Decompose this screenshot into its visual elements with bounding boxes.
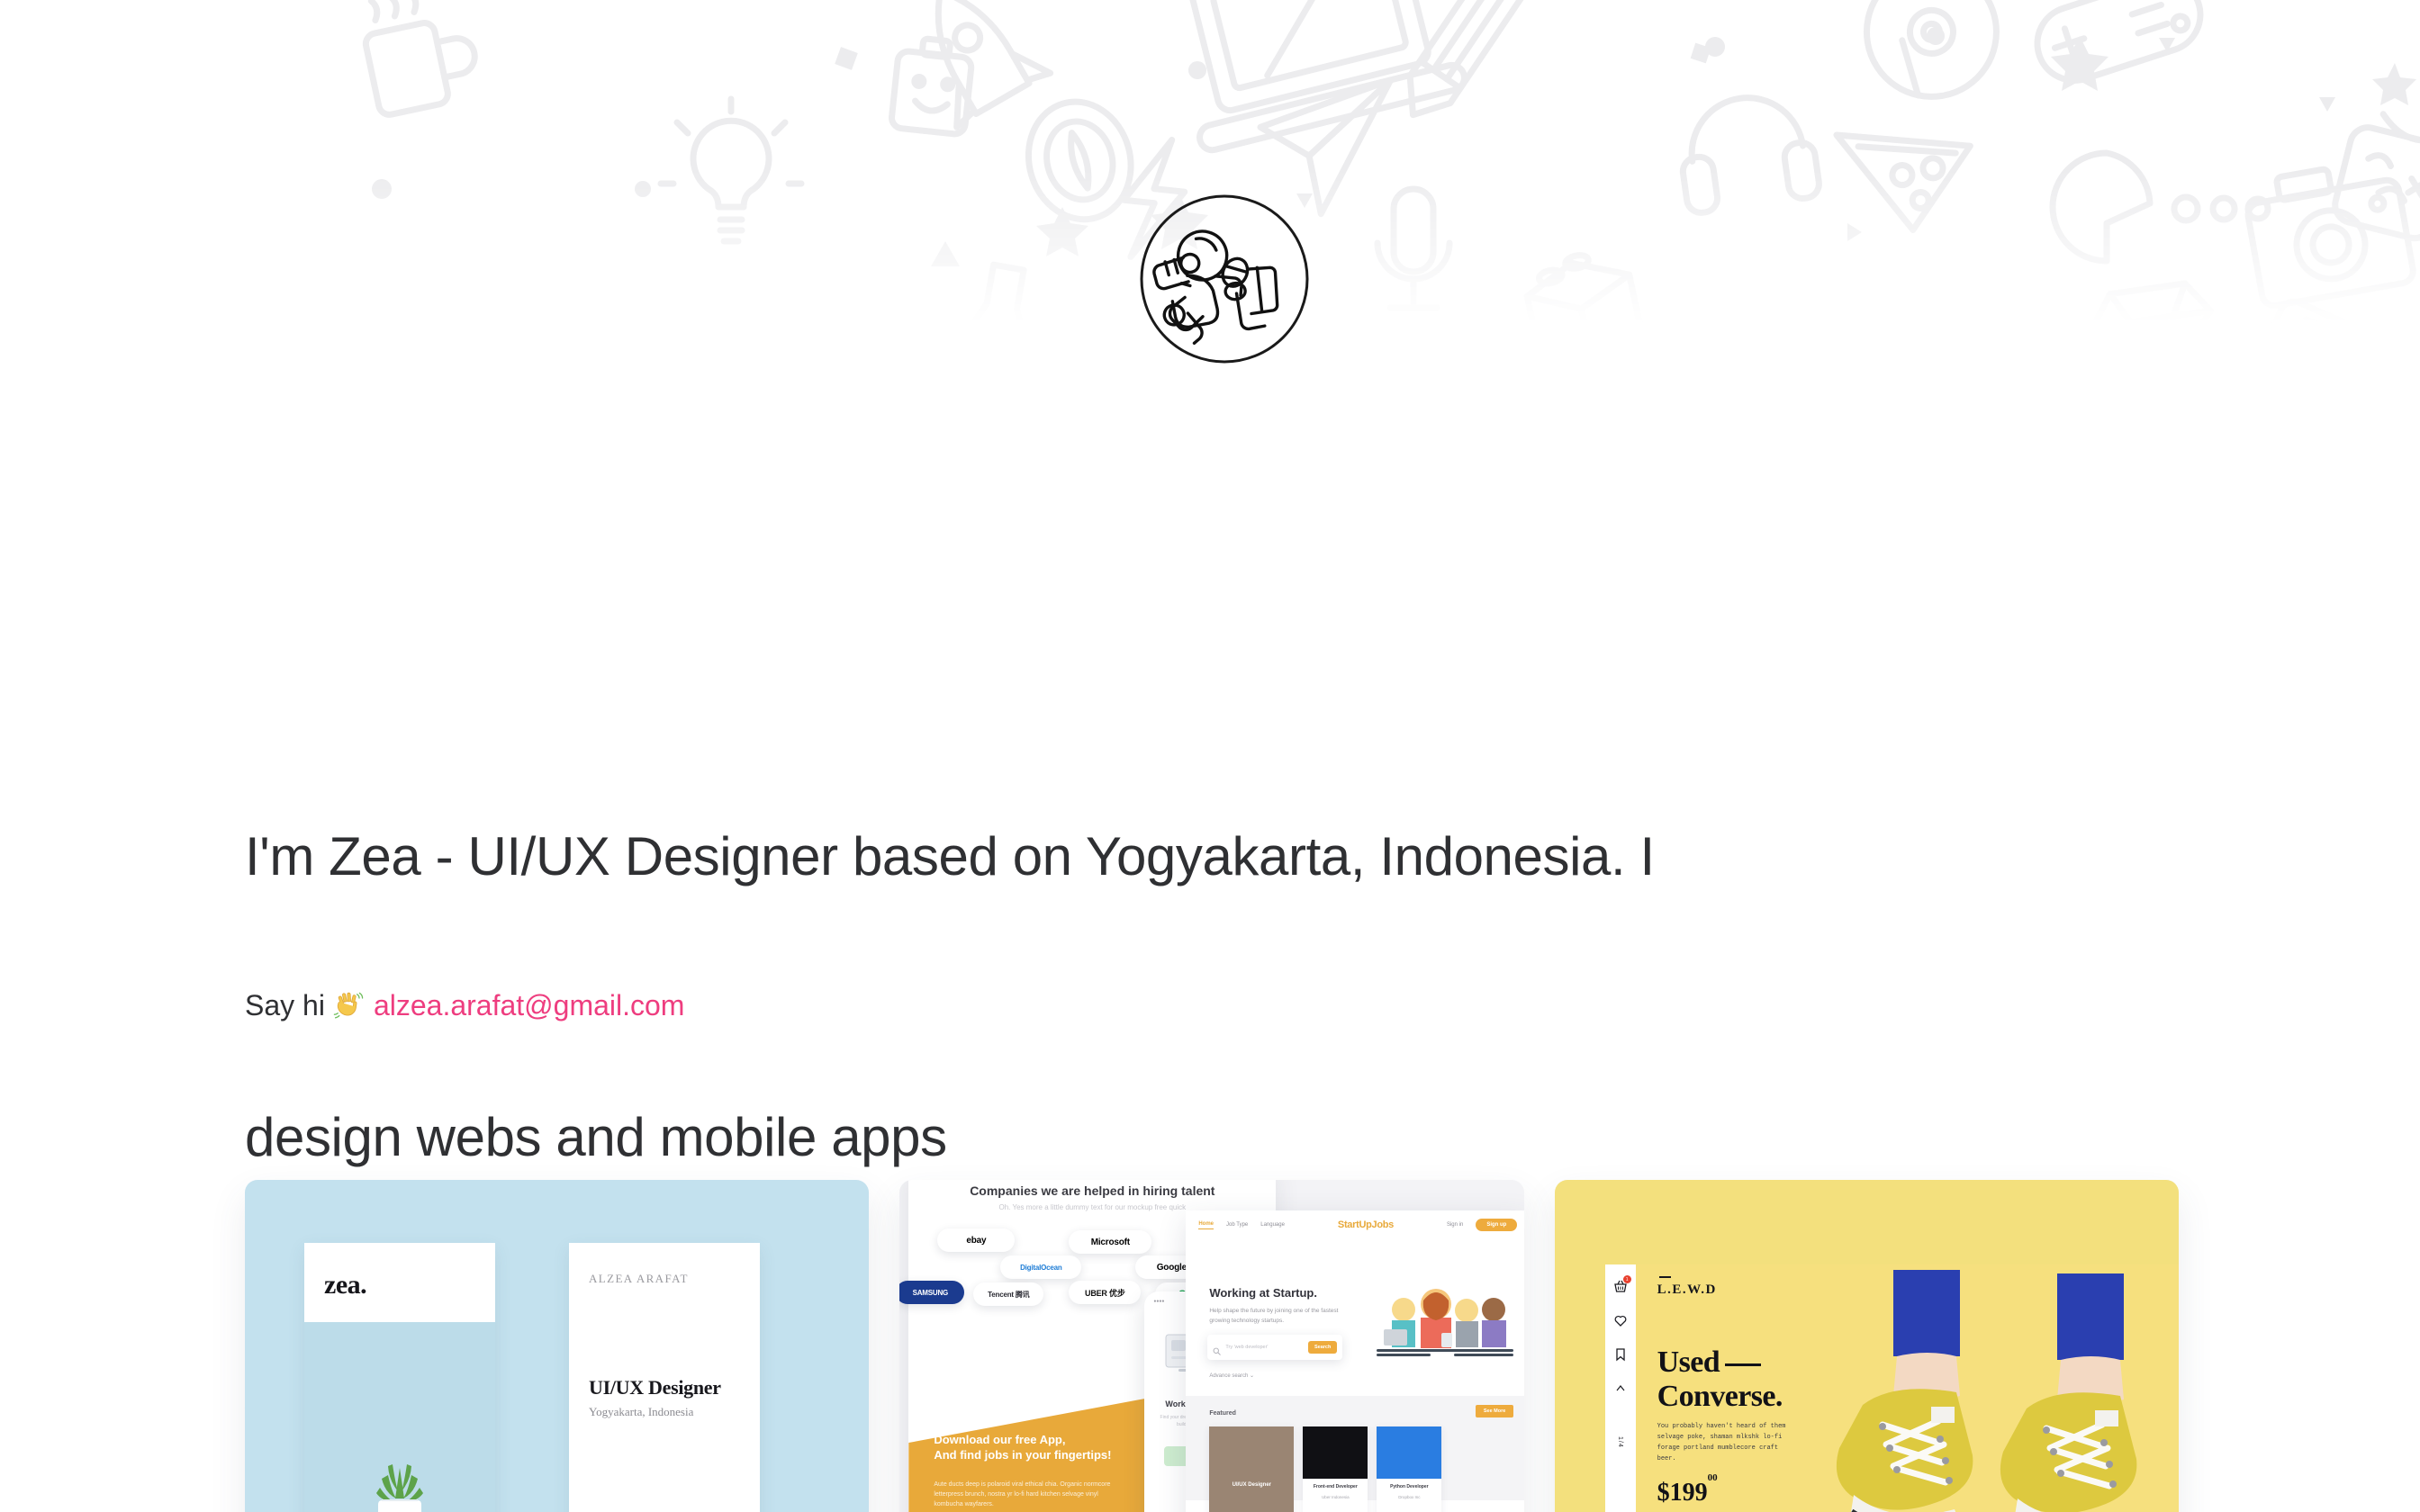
doodle-small-shapes (372, 27, 2420, 324)
company-logo-digitalocean: DigitalOcean (1000, 1255, 1081, 1279)
promo-heading-line-1: Download our free App, (934, 1433, 1065, 1446)
pacman-icon (2053, 153, 2268, 261)
sign-up-button[interactable]: Sign up (1476, 1219, 1517, 1231)
team-illustration (1373, 1286, 1517, 1358)
email-link[interactable]: alzea.arafat@gmail.com (374, 985, 685, 1025)
portfolio-page: I'm Zea - UI/UX Designer based on Yogyak… (0, 0, 2420, 1512)
mockup-search-bar[interactable]: Try 'web developer' Search (1207, 1335, 1342, 1360)
mockup-brand-logo: StartUpJobs (1338, 1219, 1394, 1230)
rocket-icon (894, 0, 1051, 127)
lego-brick-icon (1521, 246, 1645, 324)
nav-item-job-type[interactable]: Job Type (1226, 1222, 1248, 1228)
project-card-lewd-ecommerce[interactable]: 1 1/4 (1555, 1180, 2179, 1512)
waving-hand-icon (332, 989, 365, 1021)
game-controller-icon (2016, 0, 2210, 90)
promo-heading-line-2: And find jobs in your fingertips! (934, 1448, 1111, 1462)
branding-mockup-right: ALZEA ARAFAT UI/UX Designer Yogyakarta, … (569, 1243, 760, 1512)
project-gallery: zea. (245, 1180, 2179, 1512)
promo-body: Aute ducts deep is polaroid viral ethica… (934, 1480, 1123, 1509)
zea-brandmark: zea. (324, 1270, 366, 1300)
job-company: Uber Indonesia (1306, 1495, 1364, 1499)
mockup-hero-heading: Working at Startup. (1209, 1286, 1317, 1300)
heading-line-2: design webs and mobile apps (245, 1091, 2136, 1184)
job-title: UI/UX Designer (1209, 1482, 1294, 1488)
company-logo-ebay: ebay (937, 1228, 1015, 1252)
product-title-line-2: Converse. (1657, 1380, 1783, 1413)
astronaut-logo-icon[interactable] (1137, 192, 1312, 366)
product-title: Used Converse. (1657, 1345, 1820, 1414)
contact-line: Say hi alzea.arafat@gmail.com (245, 985, 684, 1025)
promo-heading: Download our free App, And find jobs in … (934, 1432, 1141, 1462)
converse-sneakers-photo (1807, 1270, 2179, 1512)
cart-count-badge: 1 (1623, 1275, 1631, 1283)
pencil-icon (1393, 0, 1526, 129)
heart-icon[interactable] (1613, 1313, 1628, 1327)
search-button[interactable]: Search (1308, 1341, 1337, 1354)
price-amount: $199 (1657, 1479, 1708, 1507)
search-icon (1213, 1344, 1221, 1352)
see-more-button[interactable]: See More (1476, 1405, 1513, 1417)
company-logo-tencent: Tencent 腾讯 (973, 1282, 1043, 1306)
company-logo-samsung: SAMSUNG (899, 1281, 964, 1304)
advanced-search-label: Advance search (1209, 1373, 1248, 1379)
heading-line-1: I'm Zea - UI/UX Designer based on Yogyak… (245, 810, 2136, 904)
job-title: Front-end Developer (1306, 1484, 1364, 1489)
featured-label: Featured (1209, 1410, 1236, 1417)
diamond-icon (2089, 281, 2220, 324)
title-dash (1725, 1363, 1761, 1366)
mockup-hero-body: Help shape the future by joining one of … (1209, 1306, 1353, 1326)
compass-icon (1015, 90, 1144, 232)
job-card[interactable]: Front-end Developer Uber Indonesia Full-… (1303, 1426, 1368, 1512)
product-side-rail: 1 1/4 (1605, 1264, 1636, 1512)
coffee-mug-icon (357, 0, 483, 117)
say-hi-label: Say hi (245, 985, 325, 1025)
companies-headline: Companies we are helped in hiring talent (908, 1183, 1276, 1198)
tissue-box-icon (2332, 108, 2420, 242)
search-input[interactable]: Try 'web developer' (1225, 1345, 1308, 1350)
job-thumbnail (1303, 1426, 1368, 1479)
price-cents: 00 (1708, 1472, 1718, 1483)
job-title: Python Developer (1380, 1484, 1438, 1489)
project-card-zea-branding[interactable]: zea. (245, 1180, 869, 1512)
job-card[interactable]: UI/UX Designer Full-time | Portland, OR (1209, 1426, 1294, 1512)
company-logo-microsoft: Microsoft (1069, 1230, 1151, 1254)
designer-name: ALZEA ARAFAT (589, 1272, 689, 1286)
sign-in-link[interactable]: Sign in (1447, 1222, 1463, 1228)
job-company: Dropbox Inc (1380, 1495, 1438, 1499)
headphones-icon (1674, 89, 1820, 214)
startupjobs-home-mockup: Home Job Type Language StartUpJobs Sign … (1186, 1210, 1523, 1512)
pizza-slice-icon (1837, 85, 1992, 242)
lego-head-icon (890, 36, 973, 135)
advanced-search-toggle[interactable]: Advance search ⌄ (1209, 1372, 1254, 1379)
job-thumbnail (1377, 1426, 1441, 1479)
camera-icon (2243, 157, 2415, 307)
smartphone-icon (2225, 297, 2358, 324)
bookmark-icon[interactable] (1613, 1347, 1628, 1362)
product-price: $19900 (1657, 1479, 1718, 1507)
job-card[interactable]: Python Developer Dropbox Inc Remote | Ne… (1377, 1426, 1441, 1512)
designer-location: Yogyakarta, Indonesia (589, 1405, 693, 1419)
mockup-navbar: Home Job Type Language StartUpJobs Sign … (1186, 1210, 1523, 1239)
chevron-up-icon[interactable] (1613, 1381, 1628, 1396)
laptop-icon (1162, 0, 1467, 153)
nav-item-home[interactable]: Home (1198, 1221, 1214, 1229)
lewd-brand-logo: L.E.W.D (1657, 1282, 1717, 1298)
branding-mockup-left: zea. (304, 1243, 495, 1512)
cd-disc-icon (1855, 0, 2009, 109)
company-logo-uber: UBER 优步 (1069, 1281, 1141, 1304)
project-card-startupjobs[interactable]: Companies we are helped in hiring talent… (899, 1180, 1523, 1512)
product-pagination: 1/4 (1617, 1436, 1623, 1448)
product-description: You probably haven't heard of them selva… (1657, 1421, 1792, 1464)
flask-icon (937, 258, 1059, 324)
chevron-down-icon: ⌄ (1250, 1373, 1254, 1379)
product-title-line-1: Used (1657, 1345, 1720, 1379)
shopping-basket-icon[interactable]: 1 (1613, 1279, 1628, 1293)
microphone-icon (1377, 189, 1449, 308)
succulent-plant-icon (358, 1441, 441, 1512)
designer-role: UI/UX Designer (589, 1376, 721, 1399)
nav-item-language[interactable]: Language (1260, 1222, 1285, 1228)
lightbulb-icon (661, 99, 801, 241)
plant-photo (304, 1322, 495, 1512)
